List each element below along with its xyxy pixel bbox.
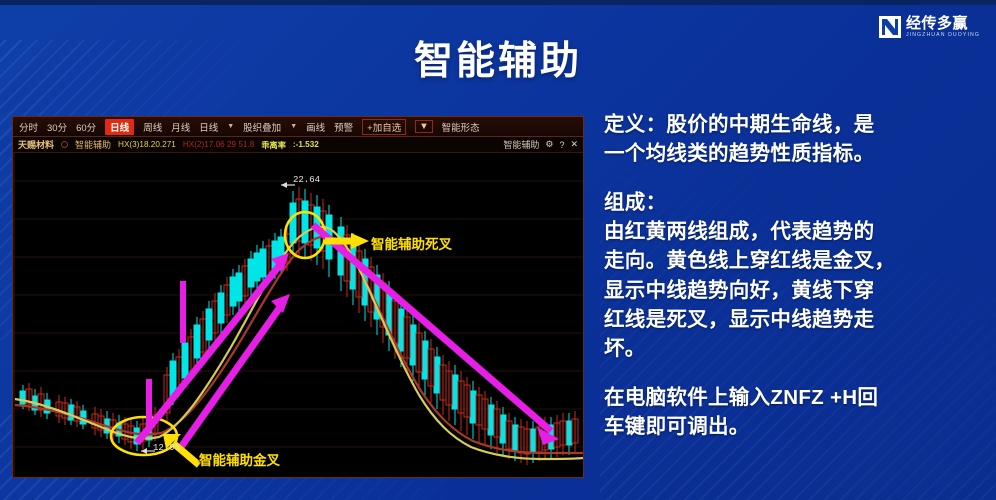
page-title: 智能辅助 <box>0 30 996 86</box>
annotation-golden-cross: 智能辅助金叉 <box>199 449 280 469</box>
tab-60min[interactable]: 60分 <box>76 120 96 134</box>
copy-spacer-2 <box>604 363 984 383</box>
slide-root: 经传多赢 JINGZHUAN DUOYING 智能辅助 分时 30分 60分 日… <box>0 0 996 500</box>
indicator-param-yellow: HX(3)18.20.271 <box>118 140 176 149</box>
metric-value: :-1.532 <box>293 140 319 149</box>
chevron-down-icon-watchlist[interactable]: ▼ <box>415 120 432 133</box>
dropdown-daily-label[interactable]: 日线 <box>199 120 218 134</box>
candlestick-series <box>20 187 578 465</box>
gear-icon[interactable]: ⚙ <box>545 139 553 150</box>
description-panel: 定义：股价的中期生命线，是 一个均线类的趋势性质指标。 组成： 由红黄两线组成，… <box>604 110 984 441</box>
copy-spacer-1 <box>604 168 984 188</box>
composition-line-5: 坏。 <box>604 334 984 363</box>
usage-line-2: 车键即可调出。 <box>604 412 984 441</box>
indicator-name: 智能辅助 <box>75 138 111 151</box>
tool-alert[interactable]: 预警 <box>334 120 353 134</box>
candlestick-chart[interactable]: 22.64 12.95 智能辅助死叉 智能辅助金叉 <box>13 153 583 478</box>
top-accent-bar <box>0 0 996 5</box>
add-to-watchlist-button[interactable]: +加自选 <box>362 119 406 135</box>
uptrend-arrow-long <box>137 253 289 443</box>
dropdown-overlay-label[interactable]: 股织叠加 <box>243 120 281 134</box>
composition-line-3: 显示中线趋势向好，黄线下穿 <box>604 276 984 305</box>
close-icon[interactable]: ✕ <box>570 139 578 150</box>
chevron-down-icon-overlay[interactable]: ▼ <box>290 123 297 130</box>
chart-canvas <box>13 153 584 478</box>
stock-name: 天赐材料 <box>18 138 54 151</box>
chart-period-toolbar: 分时 30分 60分 日线 周线 月线 日线 ▼ 股织叠加 ▼ 画线 预警 +加… <box>13 117 583 137</box>
help-icon[interactable]: ? <box>559 140 564 150</box>
chevron-down-icon-daily[interactable]: ▼ <box>227 123 234 130</box>
trading-terminal-window: 分时 30分 60分 日线 周线 月线 日线 ▼ 股织叠加 ▼ 画线 预警 +加… <box>12 116 584 478</box>
indicator-param-red: HX(2)17.06 29 51.8 <box>183 140 254 149</box>
tab-weekly[interactable]: 周线 <box>143 120 162 134</box>
indicator-toggle-dot[interactable] <box>61 141 68 148</box>
logo-text-cn: 经传多赢 <box>906 16 980 31</box>
composition-line-1: 由红黄两线组成，代表趋势的 <box>604 217 984 246</box>
tab-monthly[interactable]: 月线 <box>171 120 190 134</box>
definition-line-1: 定义：股价的中期生命线，是 <box>604 110 984 139</box>
tab-30min[interactable]: 30分 <box>47 120 67 134</box>
tab-fenshi[interactable]: 分时 <box>19 120 38 134</box>
price-tag-high: 22.64 <box>293 175 320 185</box>
composition-line-2: 走向。黄色线上穿红线是金叉， <box>604 246 984 275</box>
tool-draw-line[interactable]: 画线 <box>306 120 325 134</box>
chart-info-bar: 天赐材料 智能辅助 HX(3)18.20.271 HX(2)17.06 29 5… <box>13 137 583 153</box>
definition-line-2: 一个均线类的趋势性质指标。 <box>604 139 984 168</box>
panel-indicator-label: 智能辅助 <box>503 138 539 151</box>
tab-daily-active[interactable]: 日线 <box>105 119 134 135</box>
ma-line-red <box>15 236 583 453</box>
annotation-death-cross: 智能辅助死叉 <box>371 233 452 253</box>
metric-label: 乖离率 <box>261 139 286 151</box>
composition-line-4: 红线是死叉，显示中线趋势走 <box>604 305 984 334</box>
tool-smart-pattern[interactable]: 智能形态 <box>442 120 480 134</box>
composition-heading: 组成： <box>604 188 984 217</box>
usage-line-1: 在电脑软件上输入ZNFZ +H回 <box>604 383 984 412</box>
price-tag-low: 12.95 <box>153 443 180 453</box>
